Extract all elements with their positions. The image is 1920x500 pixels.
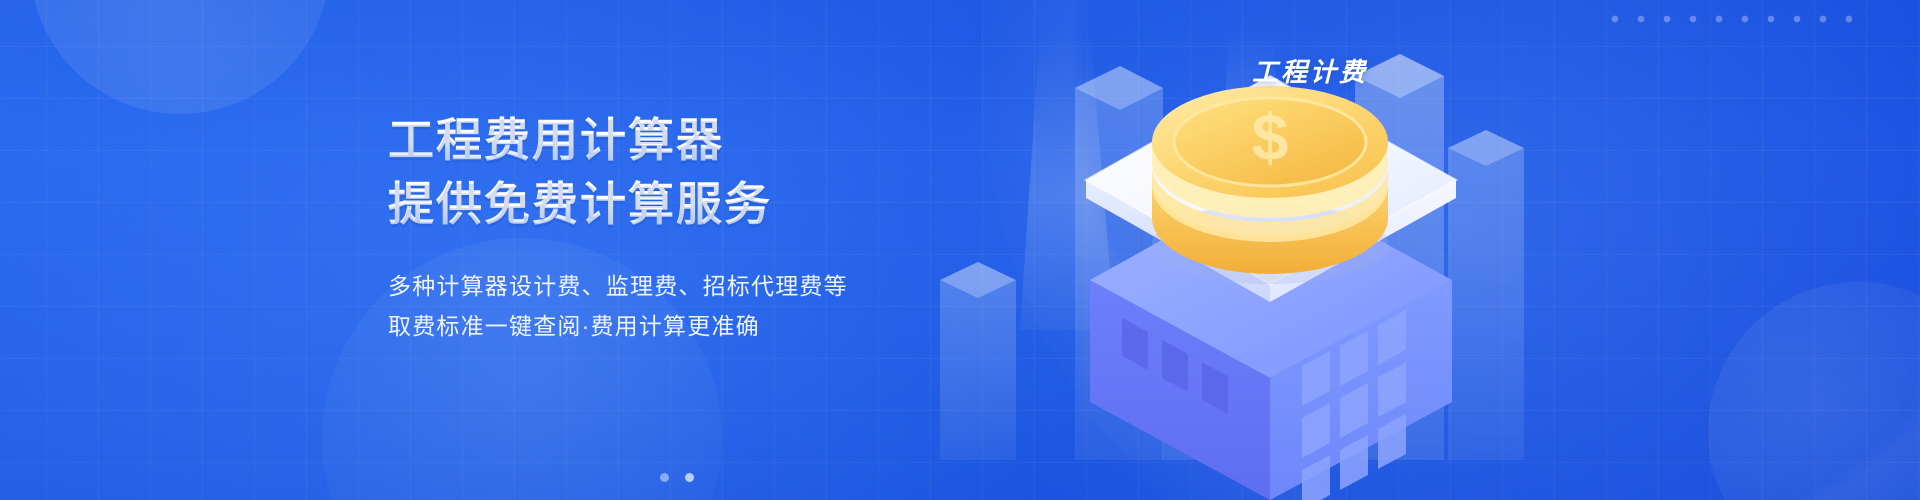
coin-dollar-symbol: $: [1252, 100, 1289, 174]
badge-label: 工程计费: [1252, 52, 1368, 89]
carousel-dot-2[interactable]: [685, 473, 694, 482]
carousel-dots[interactable]: [660, 473, 694, 482]
isometric-illustration: 工程计费: [900, 30, 1620, 500]
carousel-dot-1[interactable]: [660, 473, 669, 482]
decorative-dot-grid: [1600, 4, 1866, 34]
gold-coin-stack: $: [1152, 86, 1388, 284]
illustration-svg: $: [900, 30, 1620, 500]
hero-banner: 工程费用计算器 提供免费计算服务 多种计算器设计费、监理费、招标代理费等 取费标…: [0, 0, 1920, 500]
